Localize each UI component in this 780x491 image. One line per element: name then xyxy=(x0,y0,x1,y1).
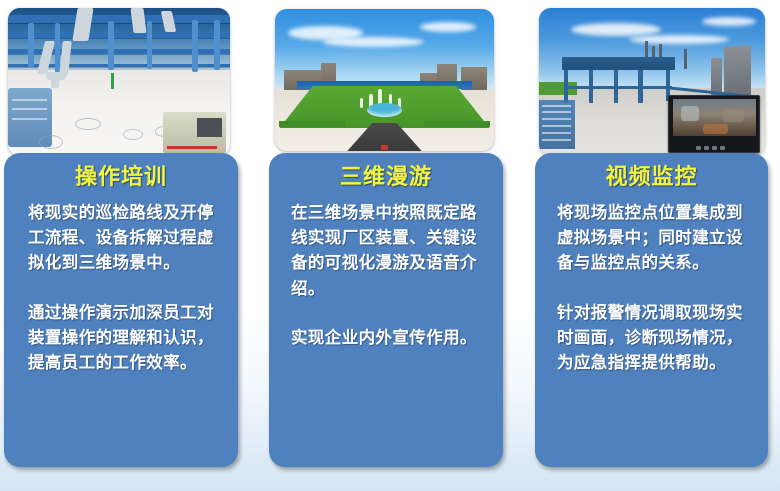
vertical-pipe xyxy=(192,20,198,72)
stop-button[interactable] xyxy=(712,146,717,150)
hedge-row xyxy=(424,121,490,127)
card-description: 在三维场景中按照既定路线实现厂区装置、关键设备的可视化漫游及语音介绍。 实现企业… xyxy=(291,201,489,351)
vertical-pipe xyxy=(108,21,114,70)
hedge-row xyxy=(279,121,345,127)
feature-card-video-surveillance[interactable]: 视频监控 将现场监控点位置集成到虚拟场景中；同时建立设备与监控点的关系。 针对报… xyxy=(535,0,769,470)
card-description: 将现实的巡检路线及开停工流程、设备拆解过程虚拟化到三维场景中。 通过操作演示加深… xyxy=(28,201,220,376)
card-title: 三维漫游 xyxy=(269,164,503,189)
cards-container: 操作培训 将现实的巡检路线及开停工流程、设备拆解过程虚拟化到三维场景中。 通过操… xyxy=(0,0,780,491)
card-thumbnail-three-dimensional-roaming[interactable] xyxy=(275,9,494,151)
scene-indoor-pipe-plant xyxy=(8,8,230,156)
pause-button[interactable] xyxy=(704,146,709,150)
green-indicator xyxy=(111,73,114,89)
feature-card-operation-training[interactable]: 操作培训 将现实的巡检路线及开停工流程、设备拆解过程虚拟化到三维场景中。 通过操… xyxy=(4,0,238,470)
hopper-stem xyxy=(51,79,59,88)
card-paragraph: 实现企业内外宣传作用。 xyxy=(291,326,489,351)
scene-outdoor-plant-lawn xyxy=(275,9,494,151)
vertical-pipe xyxy=(214,20,220,70)
card-description: 将现场监控点位置集成到虚拟场景中；同时建立设备与监控点的关系。 针对报警情况调取… xyxy=(557,201,754,376)
card-paragraph: 将现实的巡检路线及开停工流程、设备拆解过程虚拟化到三维场景中。 xyxy=(28,201,220,276)
scene-plant-with-video-feed xyxy=(539,8,765,156)
info-panel-overlay xyxy=(539,100,575,149)
cloud xyxy=(420,22,477,32)
play-button[interactable] xyxy=(696,146,701,150)
feature-card-three-dimensional-roaming[interactable]: 三维漫游 在三维场景中按照既定路线实现厂区装置、关键设备的可视化漫游及语音介绍。… xyxy=(269,0,503,470)
card-thumbnail-video-surveillance[interactable] xyxy=(539,8,765,156)
card-title: 操作培训 xyxy=(4,164,238,189)
chimney-stack xyxy=(684,49,687,68)
video-feed xyxy=(673,99,756,136)
card-thumbnail-operation-training[interactable] xyxy=(8,8,230,156)
card-paragraph: 针对报警情况调取现场实时画面，诊断现场情况，为应急指挥提供帮助。 xyxy=(557,301,754,376)
card-panel: 视频监控 将现场监控点位置集成到虚拟场景中；同时建立设备与监控点的关系。 针对报… xyxy=(535,153,768,467)
card-title: 视频监控 xyxy=(535,164,768,189)
cloud xyxy=(702,17,756,26)
card-paragraph: 在三维场景中按照既定路线实现厂区装置、关键设备的可视化漫游及语音介绍。 xyxy=(291,201,489,301)
rack-beam xyxy=(564,86,672,89)
vertical-pipe xyxy=(147,21,152,68)
card-panel: 三维漫游 在三维场景中按照既定路线实现厂区装置、关键设备的可视化漫游及语音介绍。… xyxy=(269,153,503,467)
card-paragraph: 将现场监控点位置集成到虚拟场景中；同时建立设备与监控点的关系。 xyxy=(557,201,754,276)
video-controls[interactable] xyxy=(696,146,725,150)
snapshot-button[interactable] xyxy=(720,146,725,150)
cloud xyxy=(571,23,661,36)
card-panel: 操作培训 将现实的巡检路线及开停工流程、设备拆解过程虚拟化到三维场景中。 通过操… xyxy=(4,153,238,467)
video-monitor-overlay[interactable] xyxy=(668,95,760,153)
road-marker xyxy=(381,145,388,149)
equipment-unit xyxy=(163,112,225,153)
pipe-rack-canopy xyxy=(562,57,675,70)
card-paragraph: 通过操作演示加深员工对装置操作的理解和认识，提高员工的工作效率。 xyxy=(28,301,220,376)
fountain-basin xyxy=(367,103,402,117)
floor-marking xyxy=(75,118,101,130)
vertical-pipe xyxy=(28,23,34,67)
